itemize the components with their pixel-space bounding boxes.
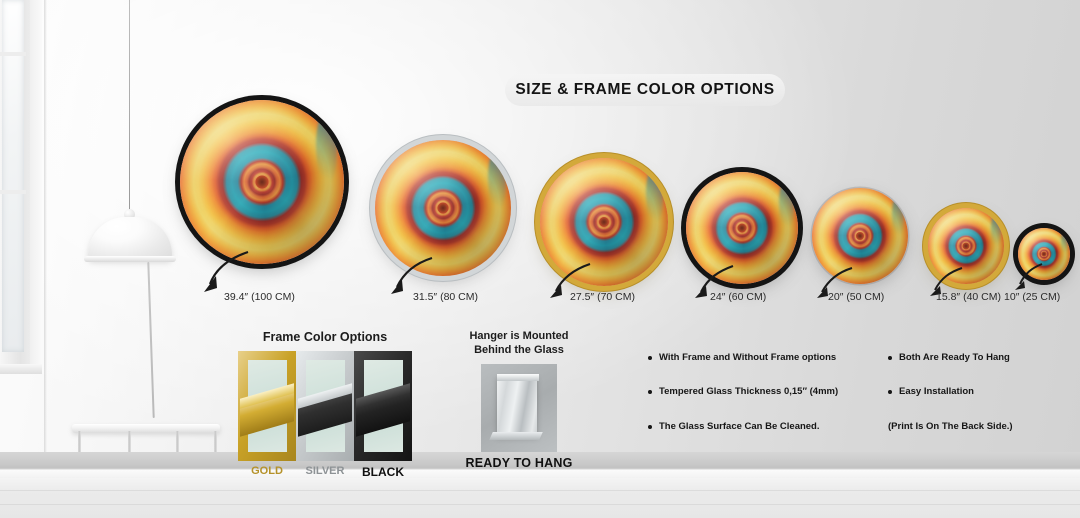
hanger-panel: Hanger is Mounted Behind the Glass READY… — [455, 330, 583, 470]
artwork-core — [738, 224, 747, 233]
frame-swatch-gold[interactable] — [238, 351, 296, 461]
pendant-lamp-cord — [129, 0, 130, 214]
frame-color-labels: GOLD SILVER BLACK — [232, 465, 418, 479]
frame-color-swatches — [232, 351, 418, 461]
size-label-10: 10″ (25 CM) — [1004, 291, 1060, 303]
hanger-bracket — [497, 376, 537, 436]
size-arrow-icon — [384, 256, 438, 296]
size-label-275: 27.5″ (70 CM) — [570, 291, 635, 303]
frame-swatch-black[interactable] — [354, 351, 412, 461]
size-arrow-icon — [196, 250, 256, 294]
teal-brushstroke — [488, 148, 506, 211]
teal-brushstroke — [892, 194, 904, 238]
artwork-core — [256, 176, 269, 189]
features-list: With Frame and Without Frame options Tem… — [648, 352, 1064, 455]
page-title-text: SIZE & FRAME COLOR OPTIONS — [515, 81, 774, 99]
frame-color-options-panel: Frame Color Options — [232, 330, 418, 479]
frame-color-label-gold: GOLD — [238, 465, 296, 479]
artwork-core — [438, 203, 449, 214]
size-label-39: 39.4″ (100 CM) — [224, 291, 295, 303]
hanger-caption: READY TO HANG — [455, 456, 583, 470]
teal-brushstroke — [646, 166, 663, 225]
features-column-right: Both Are Ready To Hang Easy Installation… — [888, 352, 1064, 455]
hanger-title-line1: Hanger is Mounted — [455, 330, 583, 344]
frame-color-options-title: Frame Color Options — [232, 330, 418, 344]
artwork-core — [599, 217, 609, 227]
console-table-top — [72, 424, 220, 433]
teal-brushstroke — [779, 179, 794, 231]
feature-item: The Glass Surface Can Be Cleaned. — [648, 421, 870, 432]
size-arrow-icon — [1012, 262, 1046, 292]
frame-color-label-silver: SILVER — [296, 465, 354, 479]
hanger-bracket-top — [497, 374, 539, 381]
size-label-20: 20″ (50 CM) — [828, 291, 884, 303]
window-mullion — [0, 190, 26, 194]
hanger-title-line2: Behind the Glass — [455, 344, 583, 358]
features-column-left: With Frame and Without Frame options Tem… — [648, 352, 870, 455]
feature-item: Tempered Glass Thickness 0,15″ (4mm) — [648, 386, 870, 397]
frame-color-label-black: BLACK — [354, 465, 412, 479]
teal-brushstroke — [316, 110, 337, 185]
window-mullion — [0, 52, 26, 56]
wall-corner — [44, 0, 47, 470]
window-jamb — [30, 0, 42, 366]
product-infographic: SIZE & FRAME COLOR OPTIONS 39.4″ (100 CM… — [0, 0, 1080, 518]
artwork-core — [856, 232, 864, 240]
hanger-bracket-image — [481, 364, 557, 452]
floor — [0, 478, 1080, 518]
teal-brushstroke — [991, 213, 1001, 248]
frame-swatch-silver[interactable] — [296, 351, 354, 461]
artwork-core — [963, 243, 970, 250]
artwork-core — [1042, 252, 1047, 257]
teal-brushstroke — [1061, 231, 1068, 255]
size-label-158: 15.8″ (40 CM) — [936, 291, 1001, 303]
feature-item: With Frame and Without Frame options — [648, 352, 870, 363]
feature-item: Easy Installation — [888, 386, 1064, 397]
size-label-24: 24″ (60 CM) — [710, 291, 766, 303]
pendant-lamp-rim — [84, 256, 176, 262]
page-title: SIZE & FRAME COLOR OPTIONS — [505, 74, 785, 106]
size-label-315: 31.5″ (80 CM) — [413, 291, 478, 303]
feature-note: (Print Is On The Back Side.) — [888, 421, 1064, 432]
artwork-disc-39[interactable] — [180, 100, 344, 264]
hanger-bracket-foot — [489, 432, 543, 440]
window-sill — [0, 364, 42, 374]
feature-item: Both Are Ready To Hang — [888, 352, 1064, 363]
